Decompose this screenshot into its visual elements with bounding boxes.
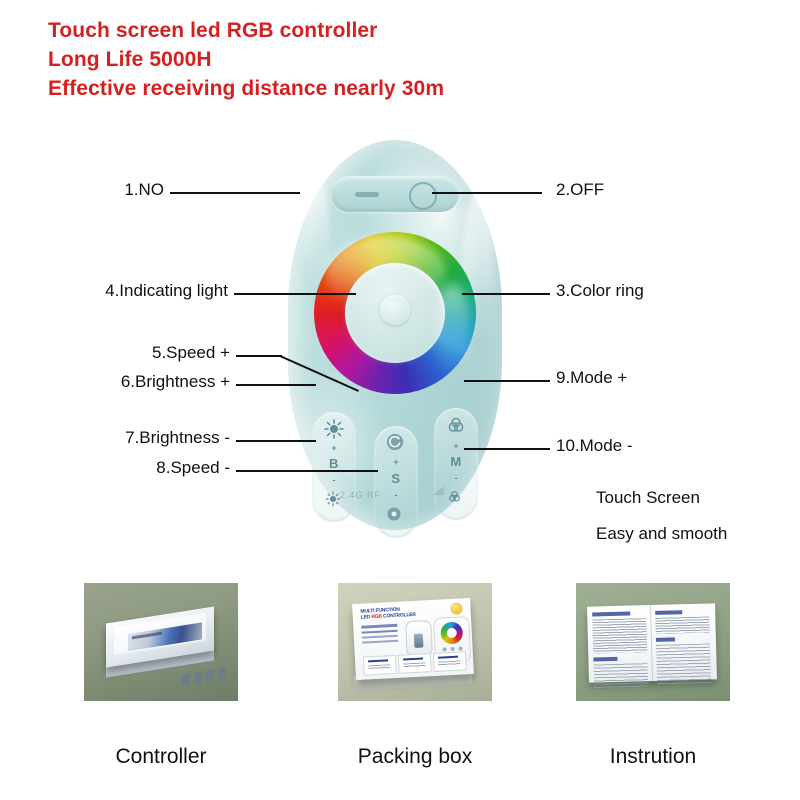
note-easy-smooth: Easy and smooth	[596, 524, 727, 544]
callout-label-1-no: 1.NO	[64, 180, 164, 200]
speed-key-label: S	[374, 471, 418, 486]
controller-terminal-ports	[182, 667, 228, 686]
controller-top-face	[114, 613, 206, 656]
leader-line-8	[236, 470, 378, 472]
photo-packing-box: MULTI FUNCTION LED RGB CONTROLLER	[338, 583, 492, 701]
callout-label-4-indicating-light: 4.Indicating light	[8, 281, 228, 301]
indicating-light	[380, 295, 410, 325]
speed-up-icon[interactable]	[385, 432, 407, 454]
packing-box-title-part4: CONTROLLER	[383, 612, 416, 620]
brightness-key-label: B	[312, 456, 356, 471]
photo-controller	[84, 583, 238, 701]
brand-triangle-icon	[433, 486, 444, 495]
leader-line-4	[234, 293, 356, 295]
packing-box-title-part3: RGB	[371, 614, 382, 621]
headline-line-2: Long Life 5000H	[48, 45, 444, 74]
leader-line-2	[432, 192, 542, 194]
device-brand-text: 2.4G RF	[340, 490, 381, 500]
packing-box-title-part2: LED	[361, 614, 371, 620]
photo-instruction	[576, 583, 730, 701]
leader-line-7	[236, 440, 316, 442]
brightness-up-icon[interactable]	[324, 419, 344, 439]
callout-label-5-speed-up: 5.Speed +	[60, 343, 230, 363]
leader-line-6	[236, 384, 316, 386]
callout-label-3-color-ring: 3.Color ring	[556, 281, 644, 301]
power-on-icon[interactable]	[355, 192, 379, 197]
packing-box-title: MULTI FUNCTION LED RGB CONTROLLER	[360, 606, 416, 621]
headline-block: Touch screen led RGB controller Long Lif…	[48, 16, 444, 103]
headline-line-3: Effective receiving distance nearly 30m	[48, 74, 444, 103]
brightness-plus-sign: +	[312, 443, 356, 453]
mode-up-icon[interactable]	[445, 414, 467, 436]
headline-line-1: Touch screen led RGB controller	[48, 16, 444, 45]
callout-label-2-off: 2.OFF	[556, 180, 604, 200]
color-ring[interactable]	[314, 232, 476, 394]
packing-box-top: MULTI FUNCTION LED RGB CONTROLLER	[352, 598, 474, 680]
product-diagram: Touch screen led RGB controller Long Lif…	[0, 0, 800, 800]
packing-box-color-wheel-art	[440, 621, 463, 644]
note-touch-screen: Touch Screen	[596, 488, 700, 508]
power-button-bar[interactable]	[331, 176, 459, 212]
callout-label-9-mode-up: 9.Mode +	[556, 368, 627, 388]
instruction-sheet	[587, 603, 717, 682]
packing-box-feature-row	[363, 651, 466, 673]
callout-label-6-brightness-up: 6.Brightness +	[30, 372, 230, 392]
leader-line-9	[464, 380, 550, 382]
callout-label-10-mode-down: 10.Mode -	[556, 436, 633, 456]
leader-line-1	[170, 192, 300, 194]
callout-label-7-brightness-down: 7.Brightness -	[40, 428, 230, 448]
device-brand-mark: 2.4G RF	[340, 490, 450, 504]
leader-line-3	[462, 293, 550, 295]
power-off-icon[interactable]	[409, 182, 437, 210]
caption-instruction: Instrution	[576, 745, 730, 769]
caption-controller: Controller	[84, 745, 238, 769]
brightness-key-strip[interactable]: + B -	[312, 412, 356, 522]
controller-label-sticker	[128, 622, 202, 651]
mode-key-label: M	[434, 454, 478, 469]
callout-label-8-speed-down: 8.Speed -	[70, 458, 230, 478]
speed-down-icon[interactable]	[385, 505, 407, 527]
leader-line-5-a	[236, 355, 282, 357]
instruction-column-left	[592, 611, 648, 690]
instruction-column-right	[655, 609, 711, 684]
speed-plus-sign: +	[374, 457, 418, 467]
leader-line-10	[464, 448, 550, 450]
speed-key-strip[interactable]: + S -	[374, 426, 418, 538]
mode-minus-sign: -	[434, 473, 478, 483]
packing-box-badge	[450, 602, 463, 615]
packing-box-adapter-art	[405, 620, 433, 657]
packing-box-bullets	[361, 624, 398, 647]
caption-packing-box: Packing box	[338, 745, 492, 769]
brightness-minus-sign: -	[312, 475, 356, 485]
